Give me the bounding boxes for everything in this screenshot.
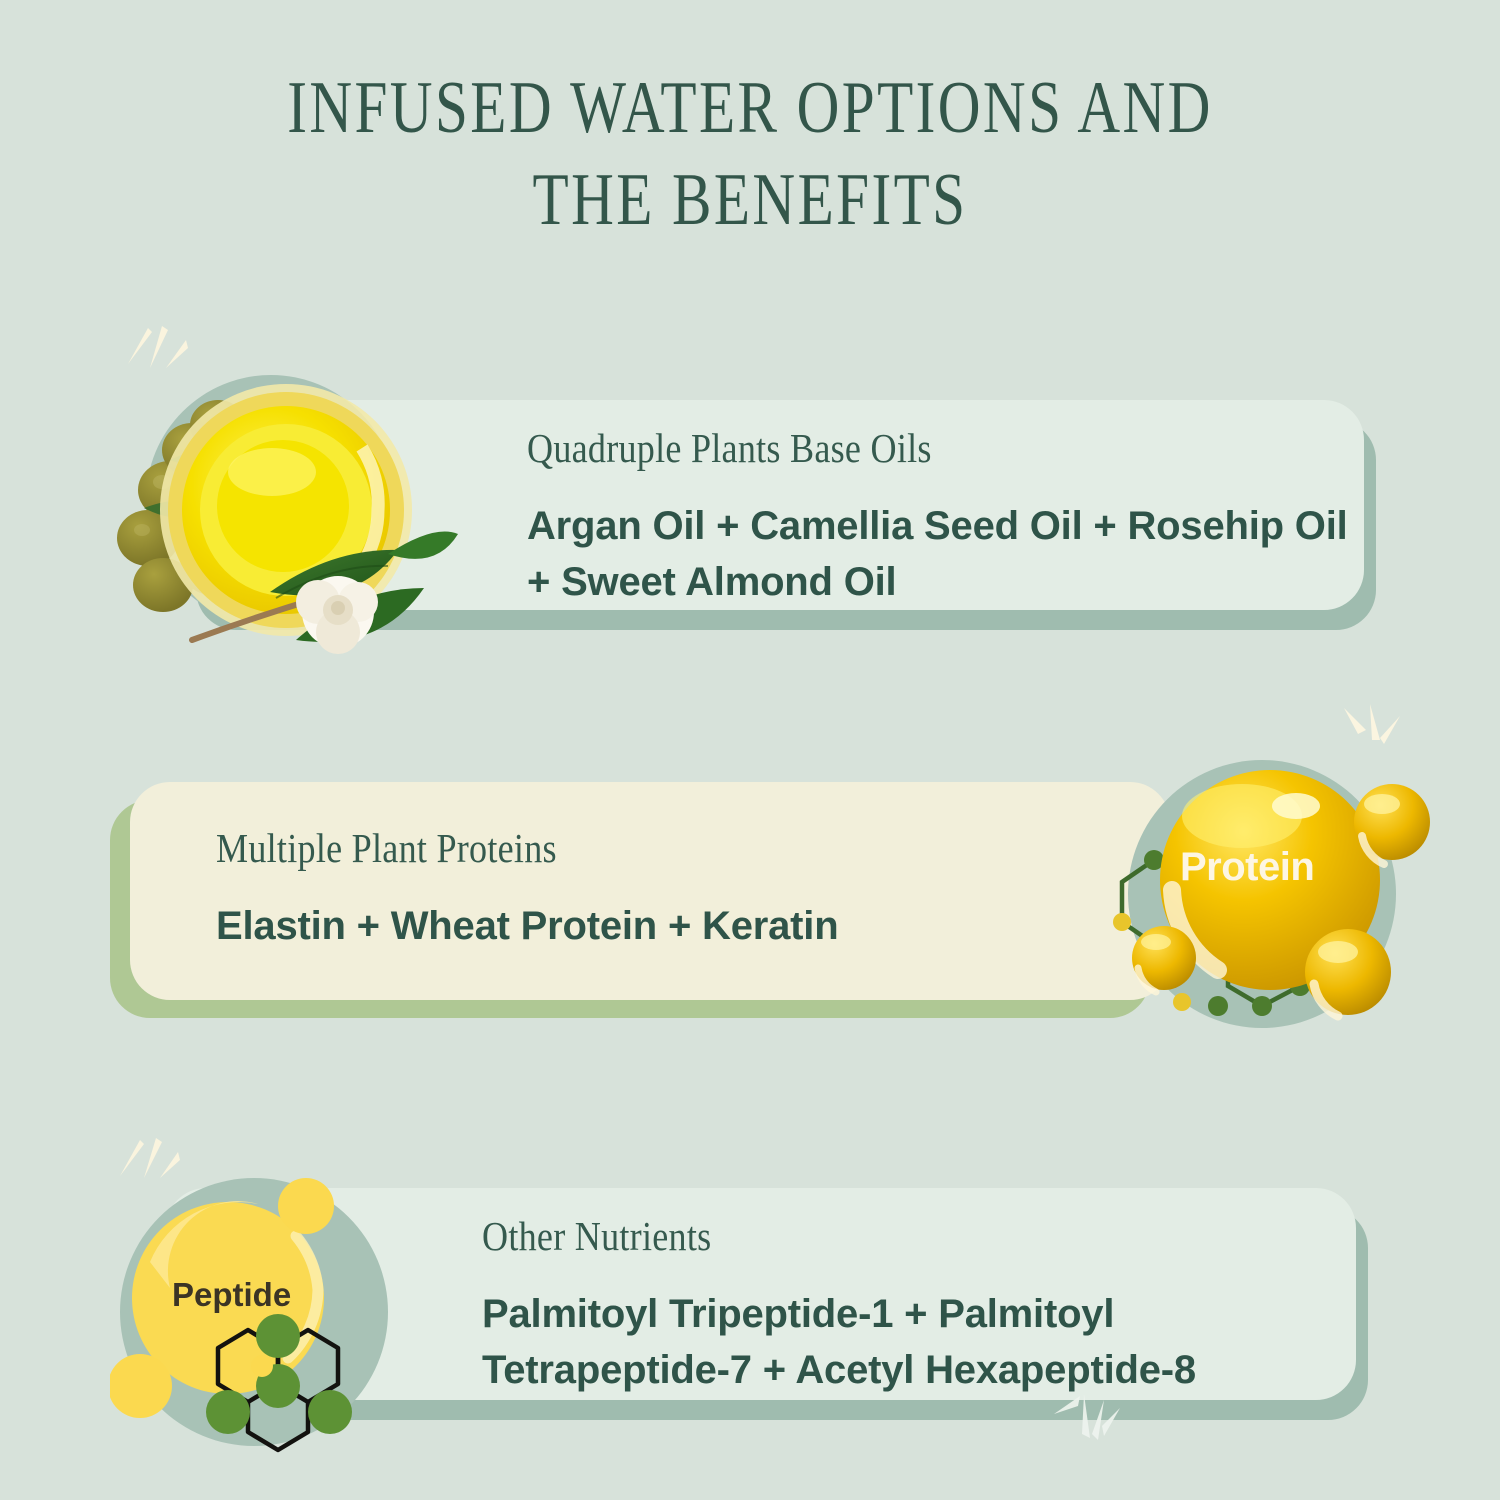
infographic-page: INFUSED WATER OPTIONS AND THE BENEFITS [0,0,1500,1500]
sparkle-icon [112,1132,192,1192]
card-3-headline: Palmitoyl Tripeptide-1 + Palmitoyl Tetra… [482,1286,1332,1398]
card-1-content: Quadruple Plants Base Oils Argan Oil + C… [527,424,1367,610]
card-1-kicker: Quadruple Plants Base Oils [527,424,1266,472]
page-title-line-1: INFUSED WATER OPTIONS AND [150,62,1350,154]
page-title-line-2: THE BENEFITS [150,154,1350,246]
camellia-flower [296,576,378,654]
card-1-headline: Argan Oil + Camellia Seed Oil + Rosehip … [527,498,1367,610]
page-title: INFUSED WATER OPTIONS AND THE BENEFITS [0,62,1500,246]
sparkle-icon [1338,700,1418,760]
protein-droplet-image [1110,740,1440,1040]
card-2-headline: Elastin + Wheat Protein + Keratin [216,898,1056,954]
card-3-content: Other Nutrients Palmitoyl Tripeptide-1 +… [482,1212,1332,1398]
peptide-bubble-label: Peptide [172,1276,291,1314]
card-2-kicker: Multiple Plant Proteins [216,824,955,872]
protein-bubble-label: Protein [1180,845,1314,890]
olive-oil-bowl-image [100,340,460,660]
sparkle-icon [1046,1392,1136,1458]
sparkle-icon [118,322,198,382]
card-2-content: Multiple Plant Proteins Elastin + Wheat … [216,824,1056,954]
peptide-bubble-image [110,1170,440,1470]
card-3-kicker: Other Nutrients [482,1212,1230,1260]
